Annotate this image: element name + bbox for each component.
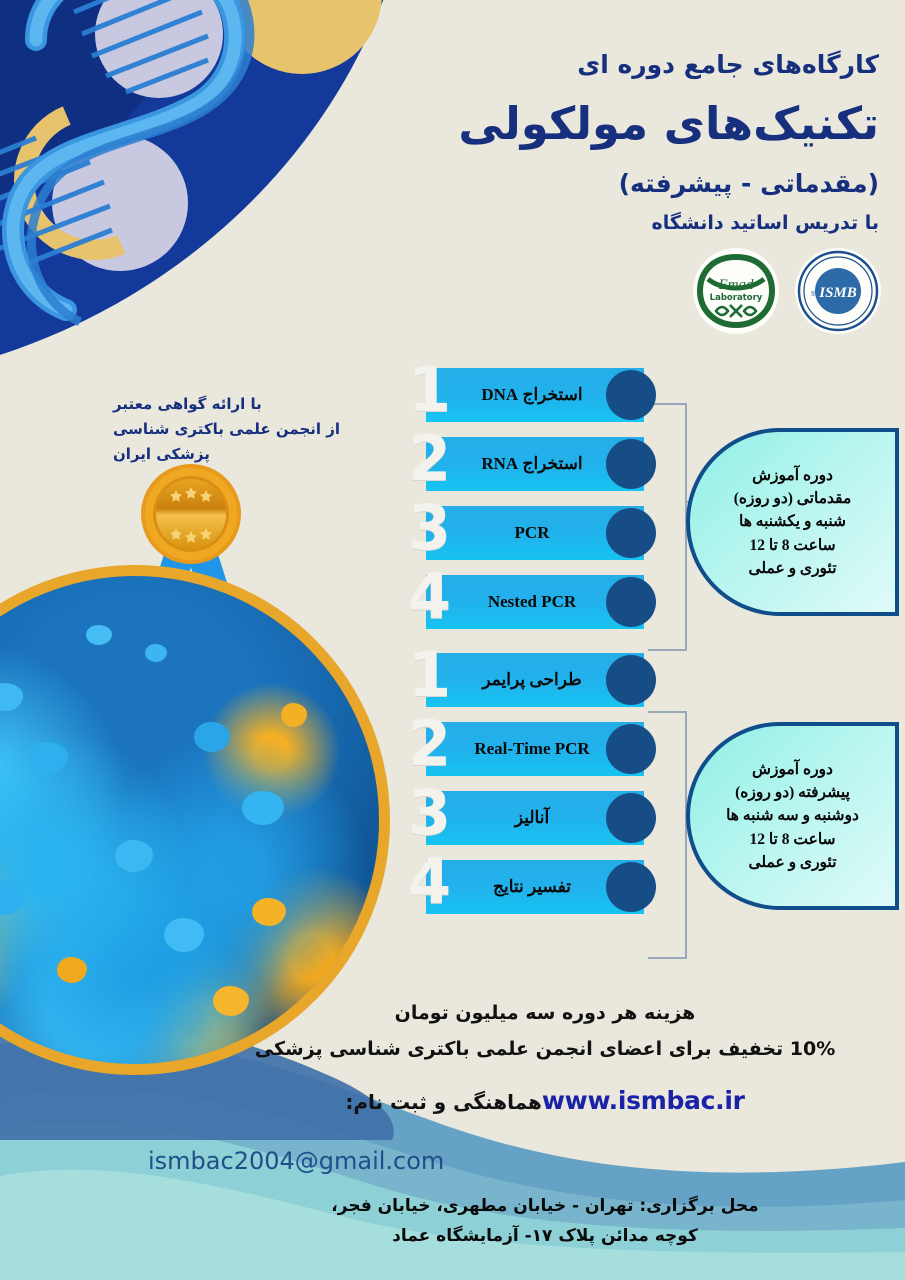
step-label: طراحی پرایمر: [482, 670, 587, 690]
step-label: Real-Time PCR: [474, 739, 595, 759]
certificate-note-line2: از انجمن علمی باکتری شناسی پزشکی ایران: [113, 417, 393, 467]
venue-address: محل برگزاری: تهران - خیابان مطهری، خیابا…: [235, 1192, 855, 1252]
course-cost: هزینه هر دوره سه میلیون تومان: [225, 995, 865, 1031]
step-dot-icon: [606, 655, 656, 705]
step-item[interactable]: Real-Time PCR 2: [410, 722, 670, 782]
registration-url[interactable]: www.ismbac.ir: [542, 1086, 745, 1115]
step-label: آنالیز: [515, 808, 555, 828]
basic-course-info: دوره آموزش مقدماتی (دو روزه) شنبه و یکشن…: [686, 428, 899, 616]
member-discount: 10% تخفیف برای اعضای انجمن علمی باکتری ش…: [225, 1031, 865, 1067]
lavender-circle-decor-1: [95, 0, 223, 98]
address-line-1: محل برگزاری: تهران - خیابان مطهری، خیابا…: [235, 1192, 855, 1222]
step-dot-icon: [606, 508, 656, 558]
header-subtitle: (مقدماتی - پیشرفته): [279, 169, 879, 198]
poster-header: کارگاه‌های جامع دوره ای تکنیک‌های مولکول…: [279, 48, 879, 234]
header-byline: با تدریس اساتید دانشگاه: [279, 212, 879, 234]
header-kicker: کارگاه‌های جامع دوره ای: [279, 48, 879, 82]
step-dot-icon: [606, 862, 656, 912]
callout-line: تئوری و عملی: [748, 854, 836, 871]
callout-line: ساعت 8 تا 12: [749, 831, 835, 848]
svg-text:Laboratory: Laboratory: [710, 293, 763, 303]
ismb-seal-icon: ISMB Iranian Society for Medical Bacteri…: [796, 249, 880, 333]
callout-line: تئوری و عملی: [748, 560, 836, 577]
poster-canvas: کارگاه‌های جامع دوره ای تکنیک‌های مولکول…: [0, 0, 905, 1280]
advanced-course-steps: طراحی پرایمر 1 Real-Time PCR 2 آنالیز 3: [410, 653, 670, 920]
emad-laboratory-logo: Emad Laboratory: [693, 248, 779, 334]
lavender-circle-decor-2: [52, 135, 188, 271]
svg-text:ISMB: ISMB: [818, 285, 857, 301]
registration-label: هماهنگی و ثبت نام:: [345, 1090, 542, 1114]
step-dot-icon: [606, 439, 656, 489]
step-label: PCR: [515, 523, 556, 543]
page-title: تکنیک‌های مولکولی: [279, 94, 879, 155]
step-item[interactable]: طراحی پرایمر 1: [410, 653, 670, 713]
step-number: 2: [408, 713, 451, 775]
step-item[interactable]: PCR 3: [410, 506, 670, 566]
logo-group: ISMB Iranian Society for Medical Bacteri…: [693, 248, 881, 334]
certificate-note-line1: با ارائه گواهی معتبر: [113, 392, 393, 417]
certificate-note: با ارائه گواهی معتبر از انجمن علمی باکتر…: [113, 392, 393, 466]
pricing-block: هزینه هر دوره سه میلیون تومان 10% تخفیف …: [225, 995, 865, 1067]
step-dot-icon: [606, 370, 656, 420]
workshop-steps: استخراج DNA 1 استخراج RNA 2 PCR 3: [410, 368, 670, 929]
step-item[interactable]: تفسیر نتایج 4: [410, 860, 670, 920]
basic-course-steps: استخراج DNA 1 استخراج RNA 2 PCR 3: [410, 368, 670, 635]
step-label: تفسیر نتایج: [493, 877, 577, 897]
callout-line: ساعت 8 تا 12: [749, 537, 835, 554]
step-dot-icon: [606, 577, 656, 627]
step-item[interactable]: آنالیز 3: [410, 791, 670, 851]
registration-line: www.ismbac.irهماهنگی و ثبت نام:: [225, 1086, 865, 1115]
step-label: استخراج DNA: [481, 385, 588, 405]
step-dot-icon: [606, 724, 656, 774]
step-item[interactable]: استخراج DNA 1: [410, 368, 670, 428]
step-number: 3: [408, 782, 451, 844]
step-number: 4: [408, 851, 451, 913]
svg-text:Emad: Emad: [718, 277, 754, 293]
gold-arc-decor: [0, 76, 198, 284]
step-number: 2: [408, 428, 451, 490]
step-number: 3: [408, 497, 451, 559]
callout-line: مقدماتی (دو روزه): [734, 490, 852, 507]
step-item[interactable]: Nested PCR 4: [410, 575, 670, 635]
step-label: Nested PCR: [488, 592, 582, 612]
emad-lab-icon: Emad Laboratory: [694, 249, 778, 333]
callout-line: دوره آموزش: [752, 467, 833, 484]
callout-line: شنبه و یکشنبه ها: [739, 513, 846, 530]
step-number: 1: [408, 644, 451, 706]
callout-line: دوشنبه و سه شنبه ها: [726, 807, 859, 824]
step-item[interactable]: استخراج RNA 2: [410, 437, 670, 497]
callout-line: پیشرفته (دو روزه): [735, 784, 850, 801]
ismb-logo: ISMB Iranian Society for Medical Bacteri…: [795, 248, 881, 334]
navy-corner-shape: [0, 0, 200, 210]
step-number: 4: [408, 566, 451, 628]
advanced-course-info: دوره آموزش پیشرفته (دو روزه) دوشنبه و سه…: [686, 722, 899, 910]
step-label: استخراج RNA: [481, 454, 588, 474]
callout-line: دوره آموزش: [752, 761, 833, 778]
address-line-2: کوچه مدائن پلاک ۱۷- آزمایشگاه عماد: [235, 1222, 855, 1252]
step-number: 1: [408, 359, 451, 421]
contact-email[interactable]: ismbac2004@gmail.com: [148, 1147, 444, 1175]
step-dot-icon: [606, 793, 656, 843]
